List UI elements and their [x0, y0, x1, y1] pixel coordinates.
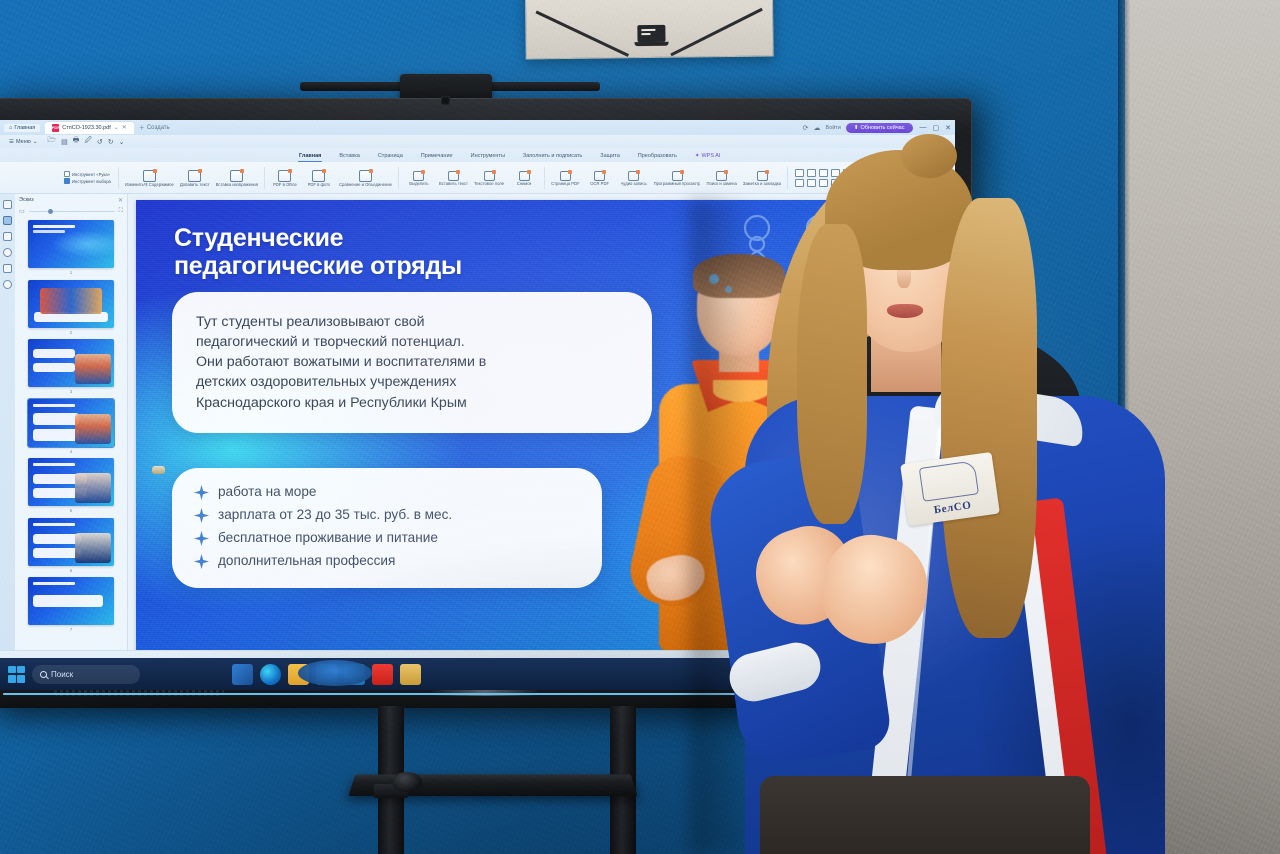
edit-content-label: Изменить텍 Содержимое	[125, 183, 174, 188]
home-tab[interactable]: ⌂ Главная	[4, 124, 40, 132]
audio-button[interactable]: Аудио запись	[617, 169, 651, 187]
torch-book-emblem-icon	[919, 460, 979, 501]
textbox-icon	[484, 171, 495, 181]
insert-text-icon	[448, 171, 459, 181]
slide-title-line-2: педагогические отряды	[174, 252, 674, 280]
thumbnail-page-6[interactable]	[28, 518, 114, 566]
add-text-button[interactable]: Добавить текст	[177, 168, 213, 188]
ring-icon	[152, 466, 165, 474]
thumbnail-page-1[interactable]	[28, 220, 114, 268]
zoom-out-icon[interactable]: ▭	[19, 208, 25, 215]
pdf-page-icon	[560, 171, 571, 181]
thumbnail-zoom-slider[interactable]	[29, 211, 115, 213]
hamburger-icon: ☰	[9, 139, 14, 145]
add-text-label: Добавить текст	[180, 183, 210, 188]
ribbon-tab-comment[interactable]: Примечание	[412, 151, 462, 162]
thumbnail-page-5[interactable]	[28, 458, 114, 506]
slide-bullet-item: дополнительная профессия	[194, 553, 578, 570]
thumbnail-number: 2	[21, 331, 121, 336]
left-icon-rail[interactable]	[0, 194, 15, 650]
task-view-icon[interactable]	[232, 664, 253, 685]
insert-image-label: Вставка изображения	[216, 183, 258, 188]
slide-body-card: Тут студенты реализовывают свой педагоги…	[172, 292, 652, 433]
jacket-logo-patch: БелСО	[900, 452, 1000, 526]
print-icon[interactable]: 🖶	[73, 136, 80, 147]
taskbar-search-placeholder: Поиск	[51, 670, 73, 679]
slide-bullet-label: зарплата от 23 до 35 тыс. руб. в мес.	[218, 507, 452, 524]
open-icon[interactable]: 🗁	[47, 136, 56, 147]
highlight-button[interactable]: Выделить	[402, 169, 436, 187]
ocr-button[interactable]: OCR PDF	[583, 169, 617, 187]
qat-dropdown-icon[interactable]: ⌄	[119, 138, 125, 146]
laptop-icon	[634, 25, 668, 49]
ribbon-tab-protect[interactable]: Защита	[591, 151, 629, 162]
expand-icon[interactable]: ⛶	[119, 208, 123, 215]
edge-browser-icon[interactable]	[260, 664, 281, 685]
sparkle-icon	[194, 531, 209, 546]
thumbnail-pane: Эскиз ✕ ▭ ⛶ 1 2	[15, 194, 128, 650]
ribbon-tab-fill-sign[interactable]: Заполнить и подписать	[514, 151, 591, 162]
sparkle-icon: ✦	[695, 153, 700, 159]
thumbnail-view-icon[interactable]	[3, 200, 12, 209]
highlight-icon	[413, 171, 424, 181]
speaker-hair-bun	[901, 134, 957, 178]
settings-icon[interactable]	[3, 280, 12, 289]
thumbnail-number: 3	[21, 390, 121, 395]
compare-merge-icon	[359, 170, 372, 182]
pdf-page-label: Страница PDF	[551, 182, 580, 187]
pdf-to-office-button[interactable]: PDF в Office	[268, 168, 302, 188]
slide-bullet-label: бесплатное проживание и питание	[218, 530, 438, 547]
pdf-to-office-label: PDF в Office	[273, 183, 297, 188]
save-icon[interactable]: ▤	[61, 138, 68, 146]
wall-sign: CO	[524, 0, 773, 60]
hand-tool-icon	[64, 171, 70, 177]
ribbon-separator	[544, 167, 545, 189]
select-tool-label: Инструмент выбора	[72, 179, 111, 184]
add-text-icon	[188, 170, 201, 182]
menu-label: Меню	[16, 139, 31, 145]
sparkle-icon	[194, 485, 209, 500]
new-tab-label: Создать	[147, 125, 170, 131]
home-tab-label: Главная	[14, 125, 35, 131]
thumbnail-pane-title: Эскиз	[19, 197, 34, 203]
thumbnail-number: 5	[21, 509, 121, 514]
redo-icon[interactable]: ↻	[108, 138, 114, 146]
thumbnail-number: 1	[21, 271, 121, 276]
folder-icon[interactable]	[400, 664, 421, 685]
home-icon: ⌂	[9, 125, 12, 131]
ribbon-tab-page[interactable]: Страница	[369, 151, 412, 162]
compare-merge-button[interactable]: Сравнение и Объединение	[336, 168, 395, 188]
close-icon[interactable]: ✕	[118, 197, 123, 204]
thumbnail-number: 4	[21, 450, 121, 455]
thumbnail-page-3[interactable]	[28, 339, 114, 387]
sparkle-icon	[194, 508, 209, 523]
wps-taskbar-running-icon[interactable]	[298, 660, 372, 686]
close-icon[interactable]: ✕	[122, 124, 127, 131]
windows-taskbar[interactable]: Поиск	[0, 658, 775, 690]
chevron-down-icon: ⌄	[33, 139, 38, 145]
taskbar-search-input[interactable]: Поиск	[32, 665, 140, 684]
viewer-icon	[672, 171, 683, 181]
viewer-label: Программный просмотр	[654, 182, 701, 187]
pdf-to-image-icon	[312, 170, 325, 182]
thumbnail-page-7[interactable]	[28, 577, 114, 625]
snapshot-icon	[519, 171, 530, 181]
thumbnail-number: 7	[21, 628, 121, 633]
undo-icon[interactable]: ↺	[97, 138, 103, 146]
slide-bullet-item: бесплатное проживание и питание	[194, 530, 578, 547]
youtube-icon[interactable]	[372, 664, 393, 685]
page-grid-icon[interactable]	[3, 216, 12, 225]
audio-icon	[628, 171, 639, 181]
new-tab-button[interactable]: ＋ Создать	[139, 123, 170, 132]
edit-content-icon	[143, 170, 156, 182]
highlight-icon[interactable]: 🖉	[84, 136, 91, 147]
thumbnail-list[interactable]: 1 2 3	[15, 217, 127, 650]
insert-text-label: Вставить текст	[439, 182, 468, 187]
textbox-label: Текстовое поле	[474, 182, 504, 187]
slide-bullets-card: работа на море зарплата от 23 до 35 тыс.…	[172, 468, 602, 588]
highlight-label: Выделить	[409, 182, 428, 187]
attachment-icon[interactable]	[3, 248, 12, 257]
slide-bullet-item: работа на море	[194, 484, 578, 501]
slide-bullet-item: зарплата от 23 до 35 тыс. руб. в мес.	[194, 507, 578, 524]
ribbon-tab-tools[interactable]: Инструменты	[462, 151, 514, 162]
slide-title-line-1: Студенческие	[174, 224, 674, 252]
stamp-icon[interactable]	[3, 264, 12, 273]
compare-merge-label: Сравнение и Объединение	[339, 183, 392, 188]
viewer-button[interactable]: Программный просмотр	[651, 169, 704, 187]
search-icon	[40, 671, 47, 678]
insert-image-icon	[230, 170, 243, 182]
insert-image-button[interactable]: Вставка изображения	[213, 168, 261, 188]
slide-bullet-label: работа на море	[218, 484, 316, 501]
speaker-hair	[941, 198, 1037, 638]
audio-label: Аудио запись	[621, 182, 647, 187]
hand-tool-button[interactable]: Инструмент «Рука»	[64, 171, 111, 177]
ribbon-group-tools: Инструмент «Рука» Инструмент выбора	[60, 170, 115, 185]
thumbnail-pane-header: Эскиз ✕	[15, 194, 127, 206]
snapshot-button[interactable]: Снимок	[507, 169, 541, 187]
textbox-button[interactable]: Текстовое поле	[471, 169, 507, 187]
ribbon-separator	[264, 167, 265, 189]
thumbnail-number: 6	[21, 569, 121, 574]
insert-text-button[interactable]: Вставить текст	[436, 169, 471, 187]
thumbnail-page-2[interactable]	[28, 280, 114, 328]
ocr-label: OCR PDF	[590, 182, 609, 187]
snapshot-label: Снимок	[517, 182, 532, 187]
ribbon-tab-insert[interactable]: Вставка	[330, 151, 368, 162]
outline-icon[interactable]	[3, 232, 12, 241]
hand-tool-label: Инструмент «Рука»	[72, 172, 110, 177]
document-tab[interactable]: PDF СтпСО-1923.30.pdf ⌄ ✕	[45, 122, 134, 134]
mouse-icon	[392, 772, 422, 792]
menu-button[interactable]: ☰ Меню ⌄	[5, 138, 41, 146]
pdf-to-image-button[interactable]: PDF в фото	[302, 168, 336, 188]
camera-lens-icon	[441, 96, 450, 105]
pdf-page-button[interactable]: Страница PDF	[548, 169, 583, 187]
slide-body-text: Тут студенты реализовывают свой педагоги…	[196, 312, 628, 413]
sparkle-icon	[194, 554, 209, 569]
pdf-to-office-icon	[278, 170, 291, 182]
wall-sign-line-left	[536, 11, 629, 57]
ribbon-separator	[118, 167, 119, 189]
thumbnail-page-4[interactable]	[28, 399, 114, 447]
slide-bullet-label: дополнительная профессия	[218, 553, 395, 570]
speaker-trousers	[760, 776, 1090, 854]
quick-access-toolbar[interactable]: 🗁 ▤ 🖶 🖉 ↺ ↻ ⌄	[47, 136, 124, 147]
windows-start-icon[interactable]	[8, 666, 25, 683]
ocr-icon	[594, 171, 605, 181]
wall-sign-line-right	[670, 8, 762, 57]
slide-title: Студенческие педагогические отряды	[174, 224, 674, 280]
select-tool-button[interactable]: Инструмент выбора	[64, 178, 111, 184]
pdf-to-image-label: PDF в фото	[308, 183, 331, 188]
pdf-file-icon: PDF	[52, 124, 59, 132]
thumbnail-zoom-controls[interactable]: ▭ ⛶	[15, 206, 127, 217]
select-tool-icon	[64, 178, 70, 184]
plus-icon: ＋	[139, 123, 145, 132]
presentation-room-scene: CO ⌂ Главная PDF СтпСО-1923.30.pdf ⌄	[0, 0, 1280, 854]
ribbon-tab-convert[interactable]: Преобразовать	[629, 151, 686, 162]
document-tab-label: СтпСО-1923.30.pdf	[62, 125, 111, 131]
ribbon-separator	[398, 167, 399, 189]
chevron-down-icon[interactable]: ⌄	[114, 124, 119, 131]
edit-content-button[interactable]: Изменить텍 Содержимое	[122, 168, 177, 188]
ribbon-tab-home[interactable]: Главная	[290, 151, 330, 162]
